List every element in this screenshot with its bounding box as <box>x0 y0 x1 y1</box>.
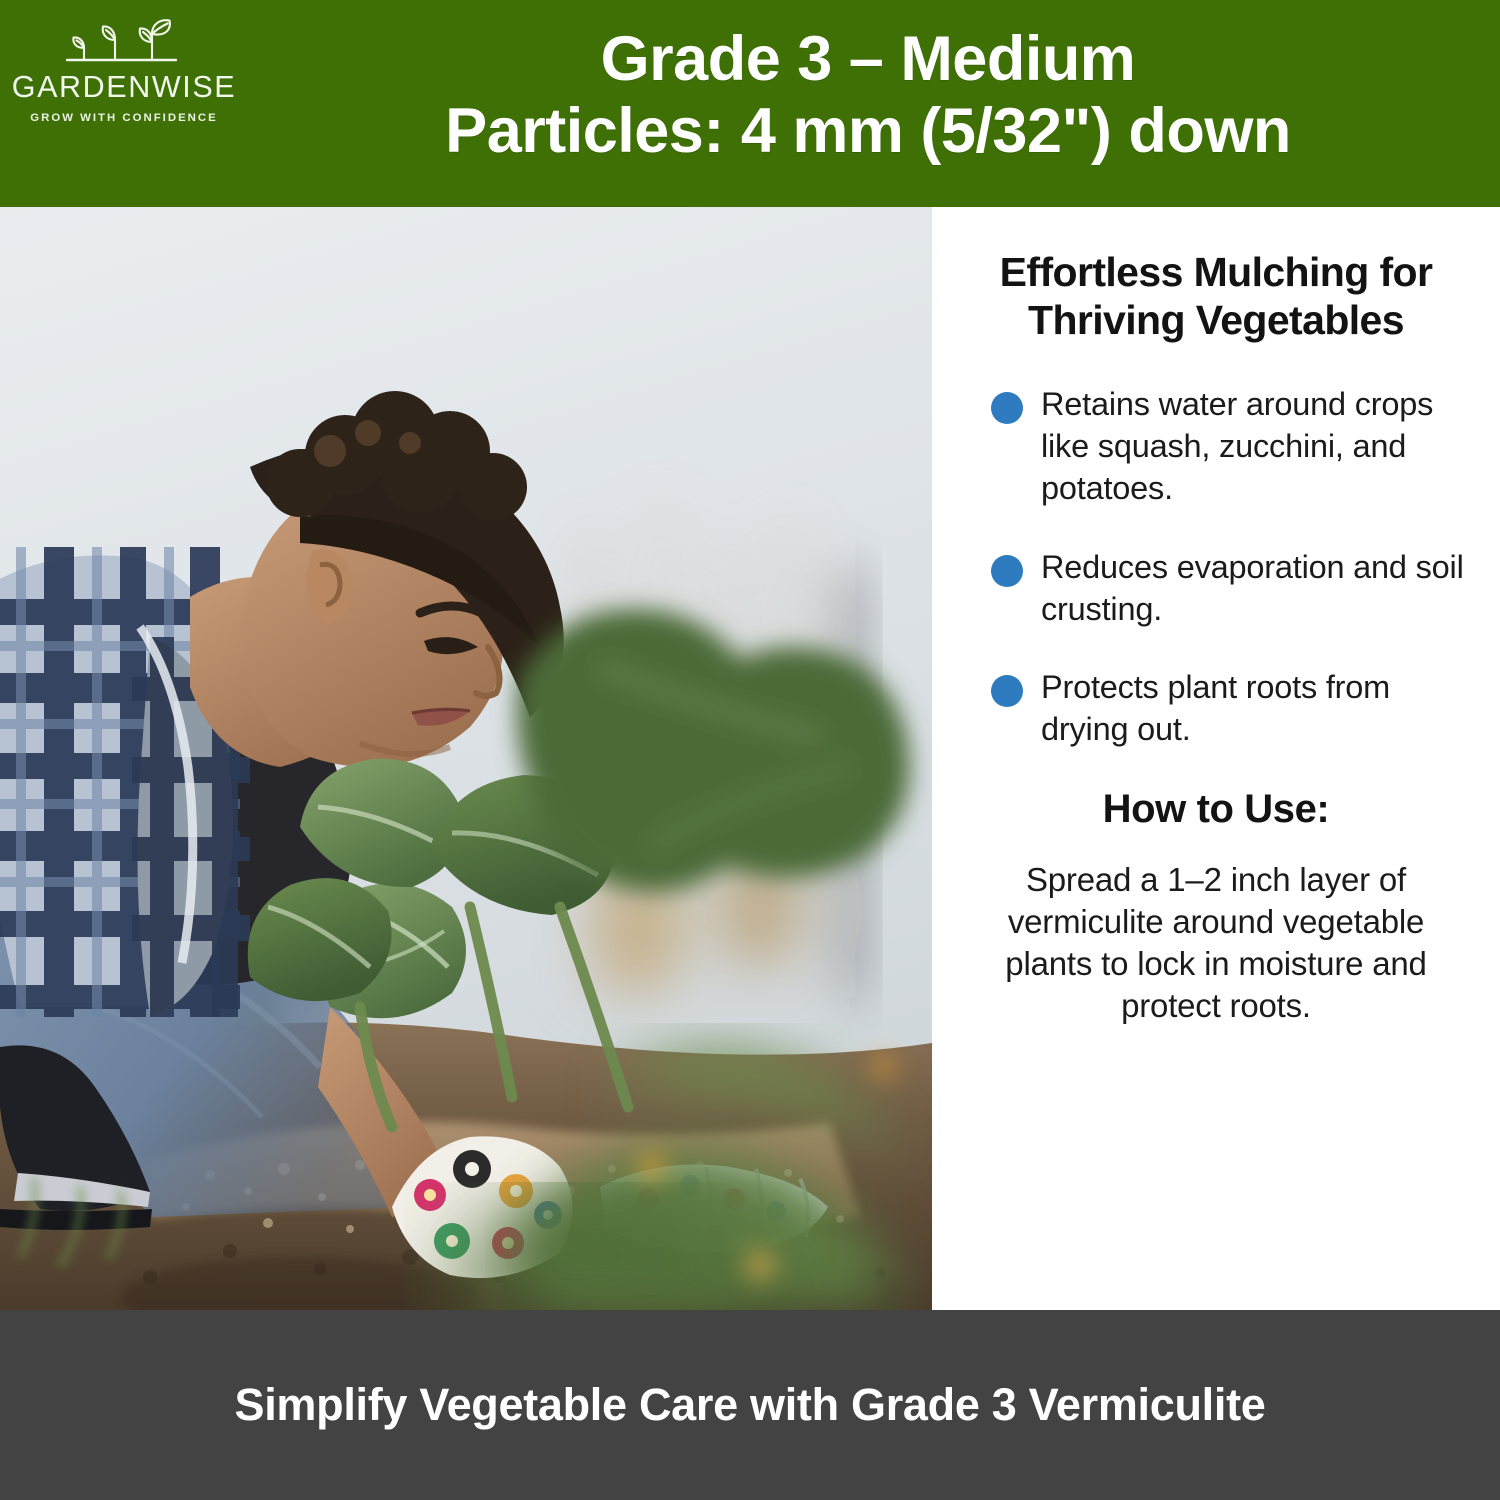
panel-heading: Effortless Mulching for Thriving Vegetab… <box>962 249 1470 345</box>
footer-bar: Simplify Vegetable Care with Grade 3 Ver… <box>0 1310 1500 1500</box>
footer-tagline: Simplify Vegetable Care with Grade 3 Ver… <box>115 1378 1386 1433</box>
page-title: Grade 3 – Medium Particles: 4 mm (5/32")… <box>250 24 1486 168</box>
list-item: Reduces evaporation and soil crusting. <box>962 546 1470 631</box>
brand-name: GARDENWISE <box>12 72 236 103</box>
header-bar: GARDENWISE GROW WITH CONFIDENCE Grade 3 … <box>0 0 1500 207</box>
benefit-text: Protects plant roots from drying out. <box>1041 666 1470 751</box>
title-line-2: Particles: 4 mm (5/32") down <box>250 96 1486 168</box>
benefits-list: Retains water around crops like squash, … <box>962 383 1470 751</box>
list-item: Retains water around crops like squash, … <box>962 383 1470 510</box>
title-line-1: Grade 3 – Medium <box>601 24 1136 94</box>
bullet-dot-icon <box>991 675 1023 707</box>
info-panel: Effortless Mulching for Thriving Vegetab… <box>932 207 1500 1310</box>
list-item: Protects plant roots from drying out. <box>962 666 1470 751</box>
bullet-dot-icon <box>991 392 1023 424</box>
bullet-dot-icon <box>991 555 1023 587</box>
lifestyle-photo <box>0 207 932 1310</box>
seedling-leaves-icon <box>49 18 199 70</box>
how-to-use-heading: How to Use: <box>962 787 1470 832</box>
product-infographic: GARDENWISE GROW WITH CONFIDENCE Grade 3 … <box>0 0 1500 1500</box>
benefit-text: Reduces evaporation and soil crusting. <box>1041 546 1470 631</box>
brand-logo: GARDENWISE GROW WITH CONFIDENCE <box>8 18 240 124</box>
how-to-use-body: Spread a 1–2 inch layer of vermiculite a… <box>962 859 1470 1028</box>
benefit-text: Retains water around crops like squash, … <box>1041 383 1470 510</box>
garden-scene-illustration <box>0 207 932 1310</box>
brand-tagline: GROW WITH CONFIDENCE <box>30 112 217 124</box>
